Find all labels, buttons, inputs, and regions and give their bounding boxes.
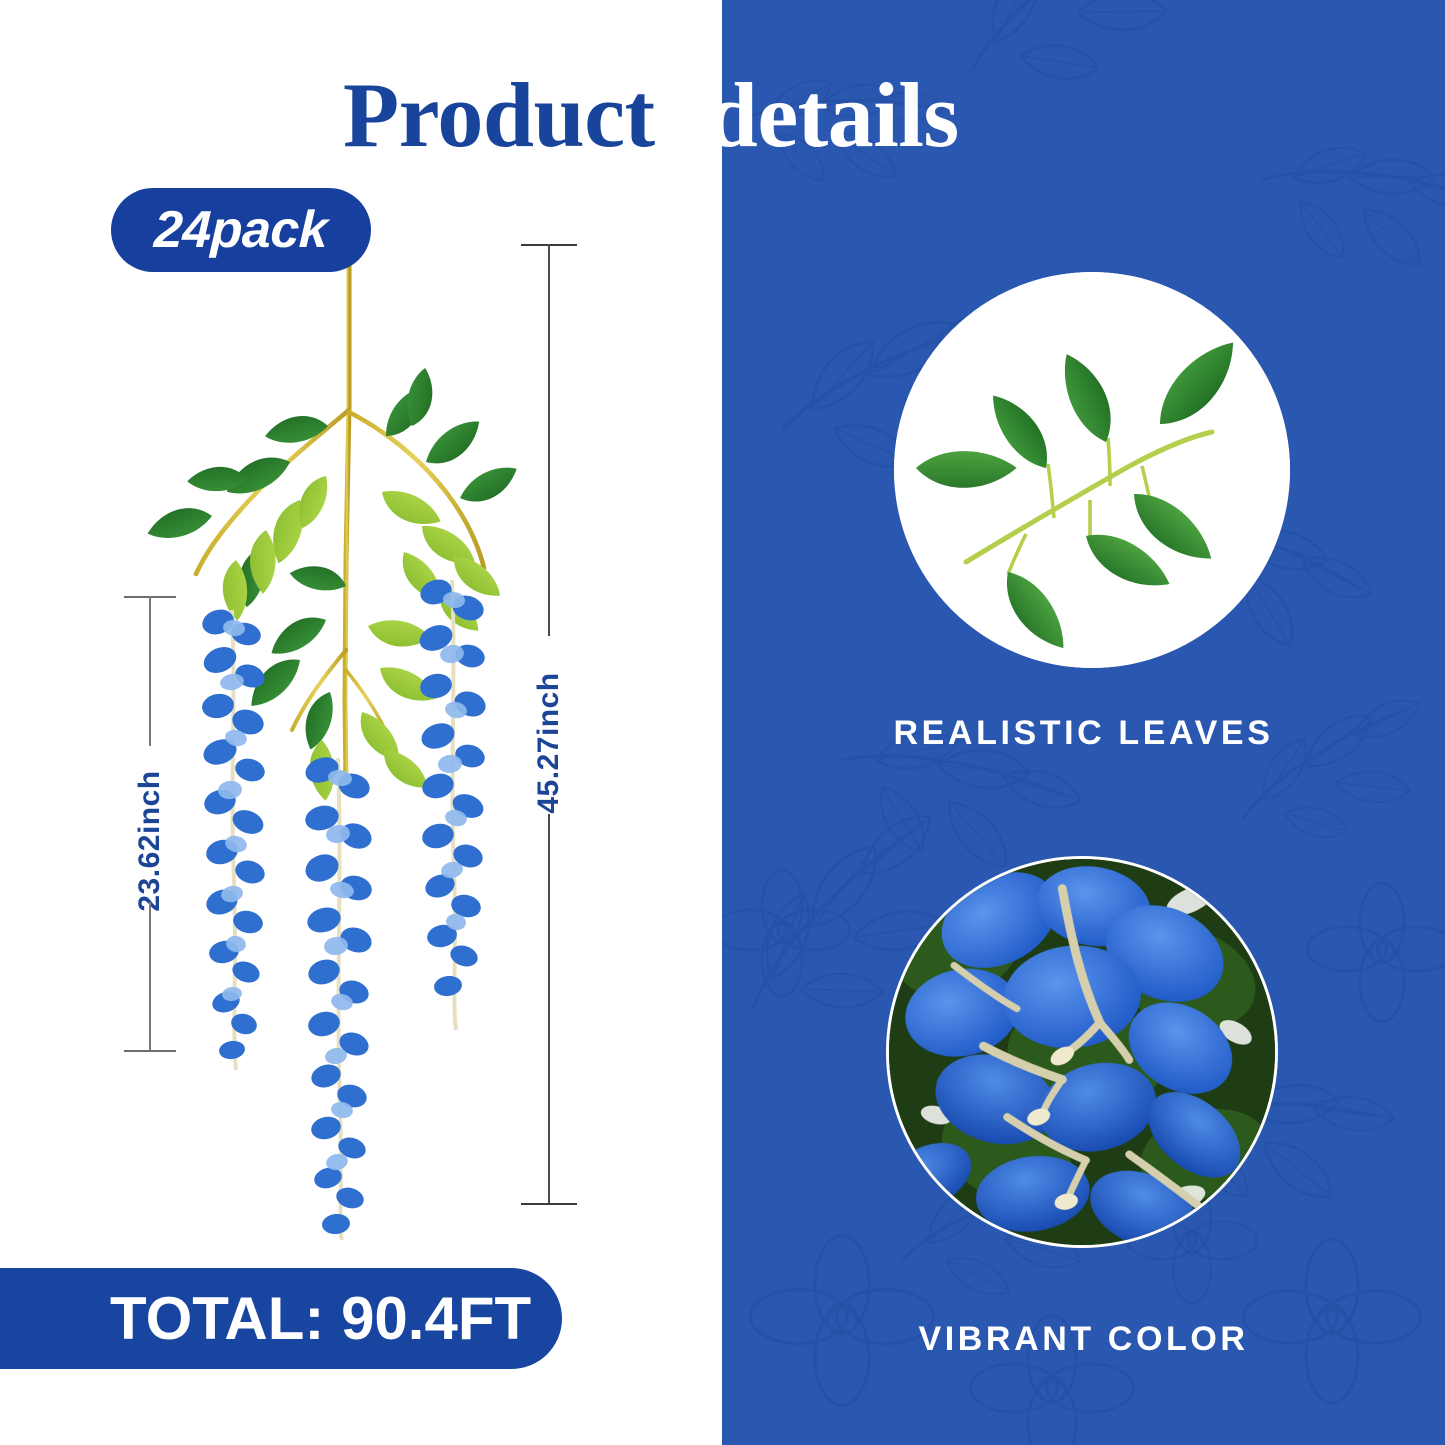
blue-flower-closeup-photo-icon (889, 859, 1275, 1245)
title-product-word: Product (343, 62, 655, 168)
vibrant-color-photo-circle (886, 856, 1278, 1248)
realistic-leaves-caption: REALISTIC LEAVES (722, 714, 1445, 753)
dimension-overall-vine-length: 45.27inch (519, 244, 579, 1207)
dimension-cap-bottom (521, 1203, 577, 1205)
dimension-stem-upper (149, 596, 151, 746)
dimension-stem-lower (548, 814, 550, 1205)
pack-count-label: 24pack (153, 200, 328, 260)
dimension-stem-upper (548, 244, 550, 636)
dimension-stem-lower (149, 902, 151, 1052)
total-length-label: TOTAL: 90.4FT (110, 1284, 531, 1353)
realistic-leaves-photo-circle (894, 272, 1290, 668)
leaf-sprig-photo-icon (894, 272, 1290, 668)
pack-count-badge: 24pack (111, 188, 371, 272)
product-detail-infographic: Product details (0, 0, 1445, 1445)
dimension-cap-bottom (124, 1050, 176, 1052)
total-length-badge: TOTAL: 90.4FT (0, 1268, 562, 1369)
dimension-flower-strand-length: 23.62inch (120, 596, 180, 1052)
dimension-label-45-27-inch: 45.27inch (532, 672, 566, 813)
dimension-label-23-62-inch: 23.62inch (133, 770, 167, 911)
vibrant-color-caption: VIBRANT COLOR (722, 1320, 1445, 1359)
hanging-wisteria-vine-image (140, 230, 560, 1240)
